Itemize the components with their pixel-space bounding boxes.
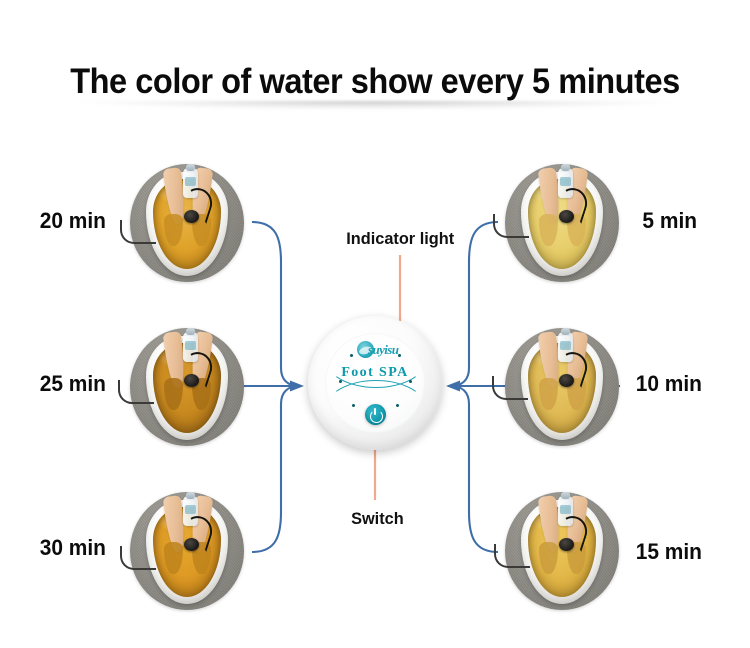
power-button[interactable]	[365, 404, 386, 425]
power-cord	[120, 546, 156, 570]
power-icon-stem	[374, 408, 376, 415]
page-title: The color of water show every 5 minutes	[26, 62, 724, 102]
stage-photo-5min	[497, 162, 627, 284]
power-cord	[118, 380, 154, 404]
right-arrow-icon	[446, 381, 460, 392]
power-cord	[492, 376, 528, 400]
time-label-30min: 30 min	[40, 535, 106, 561]
left-connector-bottom	[252, 386, 299, 552]
power-cord	[494, 544, 530, 568]
title-underline-shadow	[75, 101, 675, 110]
stage-photo-10min	[497, 326, 627, 448]
logo-wordmark: suyisu	[368, 342, 398, 358]
foot-spa-control-unit[interactable]: suyisu Foot SPA	[308, 316, 442, 450]
power-cord	[120, 220, 156, 244]
callout-indicator-light: Indicator light	[346, 229, 454, 249]
electrode-array	[184, 374, 199, 387]
brand-text: Foot SPA	[308, 365, 442, 381]
left-arrow-icon	[290, 381, 304, 392]
electrode-array	[184, 538, 199, 551]
right-connector-bottom	[451, 386, 498, 552]
time-label-15min: 15 min	[636, 539, 702, 565]
time-label-5min: 5 min	[642, 208, 697, 234]
electrode-array	[184, 210, 199, 223]
power-icon	[370, 410, 383, 423]
callout-switch: Switch	[351, 509, 404, 529]
stage-photo-15min	[497, 490, 627, 612]
right-connector-top	[451, 222, 498, 386]
time-label-10min: 10 min	[636, 371, 702, 397]
electrode-array	[559, 538, 574, 551]
stage-photo-20min	[122, 162, 252, 284]
electrode-array	[559, 210, 574, 223]
time-label-25min: 25 min	[40, 371, 106, 397]
infographic-canvas: The color of water show every 5 minutes	[0, 0, 750, 648]
electrode-array	[559, 374, 574, 387]
stage-photo-30min	[122, 490, 252, 612]
time-label-20min: 20 min	[40, 208, 106, 234]
power-cord	[493, 214, 529, 238]
brand-logo: suyisu	[357, 340, 393, 359]
stage-photo-25min	[122, 326, 252, 448]
left-connector-top	[252, 222, 299, 386]
